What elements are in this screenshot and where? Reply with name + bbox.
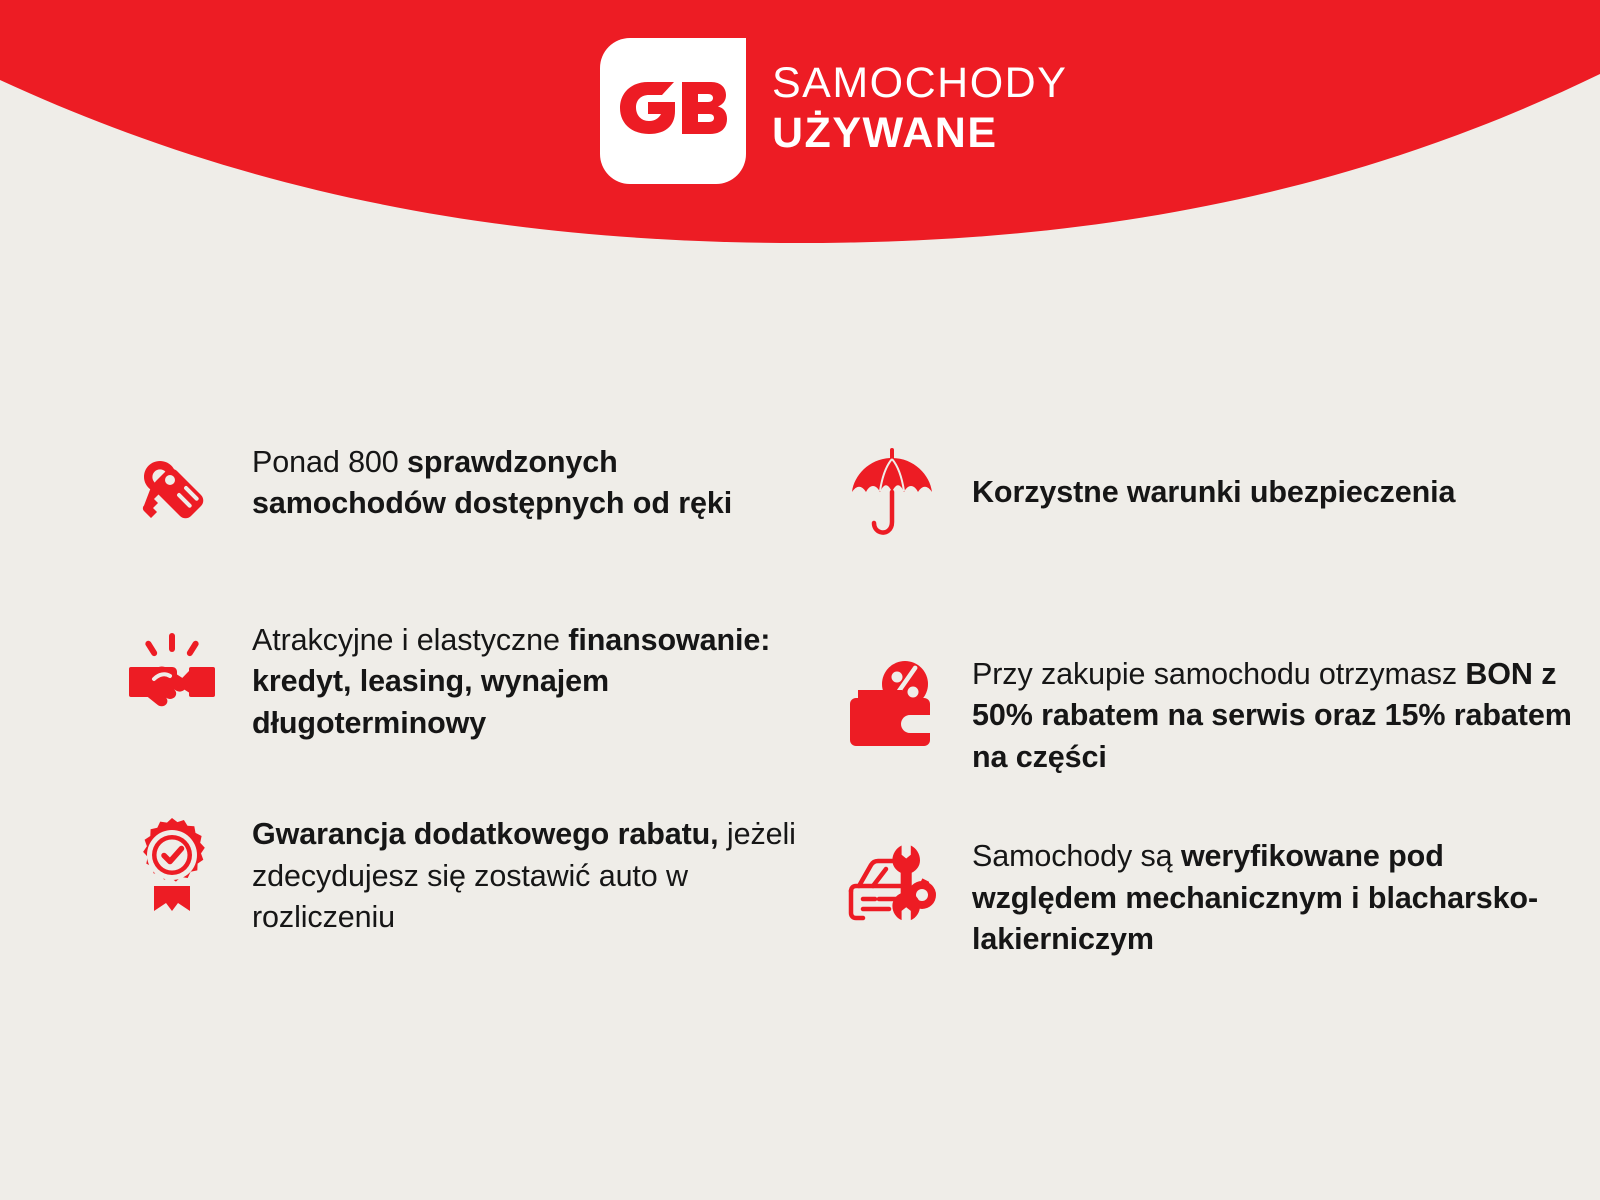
benefits-grid: Ponad 800 sprawdzonych samochodów dostęp… xyxy=(0,440,1600,961)
benefit-text-inspection: Samochody są weryfikowane pod względem m… xyxy=(972,834,1572,960)
gb-logo-icon xyxy=(618,82,728,140)
benefit-text-service-voucher: Przy zakupie samochodu otrzymasz BON z 5… xyxy=(972,652,1572,778)
benefit-text-segment-bold: Korzystne warunki ubezpieczenia xyxy=(972,475,1455,509)
benefit-text-segment: Przy zakupie samochodu otrzymasz xyxy=(972,657,1465,691)
benefits-left-column: Ponad 800 sprawdzonych samochodów dostęp… xyxy=(120,440,840,961)
benefit-text-cars-available: Ponad 800 sprawdzonych samochodów dostęp… xyxy=(252,440,812,525)
brand-line-samochody: SAMOCHODY xyxy=(772,62,1067,105)
umbrella-icon xyxy=(840,440,944,544)
benefit-item-financing: Atrakcyjne i elastyczne finansowanie: kr… xyxy=(120,618,840,744)
car-key-tag-icon xyxy=(120,440,224,544)
benefit-item-inspection: Samochody są weryfikowane pod względem m… xyxy=(840,834,1600,960)
benefit-item-trade-in-discount: Gwarancja dodatkowego rabatu, jeżeli zde… xyxy=(120,812,840,938)
benefit-item-service-voucher: Przy zakupie samochodu otrzymasz BON z 5… xyxy=(840,652,1600,778)
award-badge-check-icon xyxy=(120,812,224,916)
brand-wordmark: SAMOCHODY UŻYWANE xyxy=(772,62,1067,161)
benefits-right-column: Korzystne warunki ubezpieczenia xyxy=(840,440,1600,961)
benefit-text-segment: Samochody są xyxy=(972,839,1181,873)
benefit-item-insurance: Korzystne warunki ubezpieczenia xyxy=(840,440,1600,544)
benefit-text-segment: Atrakcyjne i elastyczne xyxy=(252,623,568,657)
brand-lockup: SAMOCHODY UŻYWANE xyxy=(600,38,1067,184)
benefit-item-cars-available: Ponad 800 sprawdzonych samochodów dostęp… xyxy=(120,440,840,544)
benefit-text-segment: Ponad 800 xyxy=(252,445,407,479)
wallet-percent-icon xyxy=(840,652,944,756)
brand-line-uzywane: UŻYWANE xyxy=(772,112,1067,155)
logo-badge xyxy=(600,38,746,184)
benefit-text-insurance: Korzystne warunki ubezpieczenia xyxy=(972,470,1455,513)
benefit-text-segment-bold: Gwarancja dodatkowego rabatu, xyxy=(252,817,719,851)
benefit-text-trade-in-discount: Gwarancja dodatkowego rabatu, jeżeli zde… xyxy=(252,812,812,938)
handshake-icon xyxy=(120,618,224,722)
car-wrench-gear-icon xyxy=(840,834,944,938)
benefit-text-financing: Atrakcyjne i elastyczne finansowanie: kr… xyxy=(252,618,812,744)
